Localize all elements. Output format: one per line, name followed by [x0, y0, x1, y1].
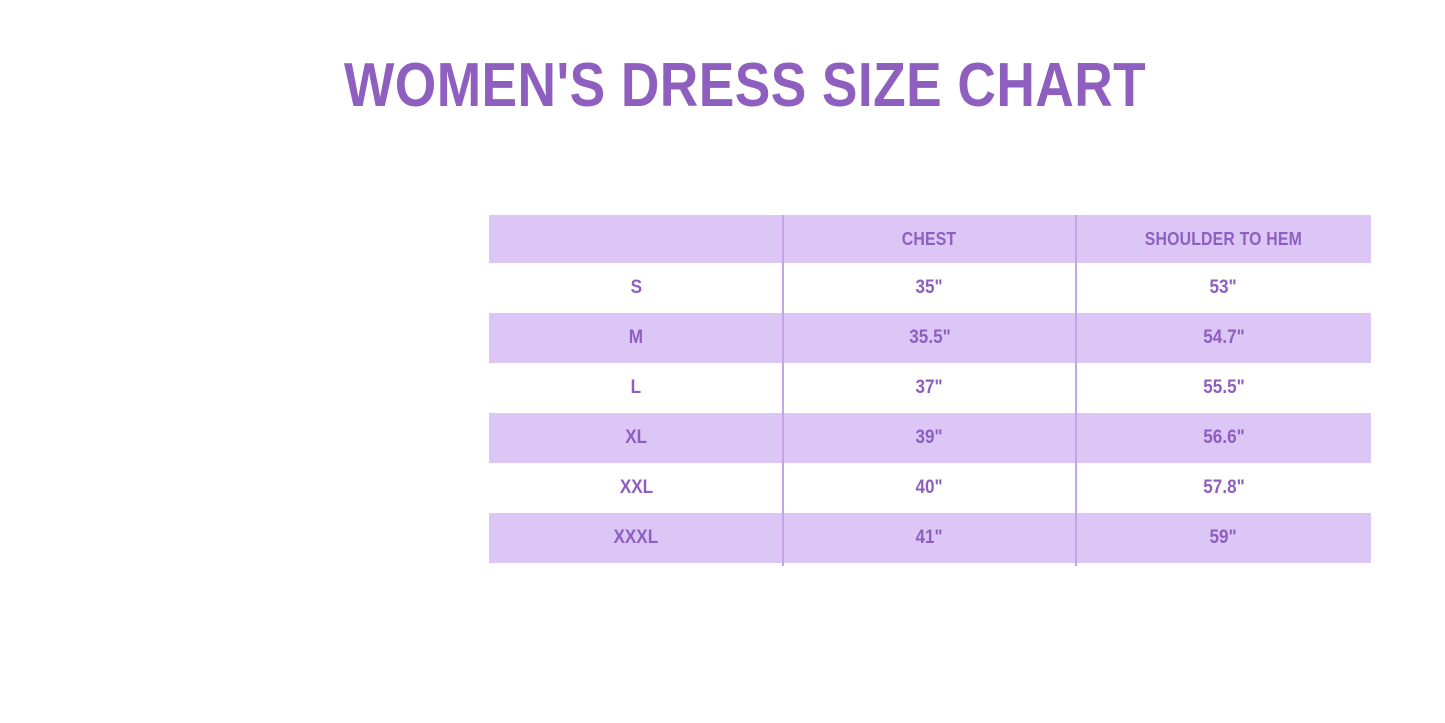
cell-chest: 41" [783, 513, 1076, 563]
cell-size: L [489, 363, 783, 413]
cell-chest: 35" [783, 263, 1076, 313]
cell-size: XL [489, 413, 783, 463]
cell-chest: 40" [783, 463, 1076, 513]
table-header-row: CHEST SHOULDER TO HEM [489, 215, 1371, 263]
cell-shoulder-to-hem: 59" [1076, 513, 1371, 563]
cell-size: XXL [489, 463, 783, 513]
cell-shoulder-to-hem: 55.5" [1076, 363, 1371, 413]
table-row: XL 39" 56.6" [489, 413, 1371, 463]
size-chart-table: CHEST SHOULDER TO HEM S 35" 53" [489, 215, 1371, 563]
table-header: CHEST SHOULDER TO HEM [489, 215, 1371, 263]
table-row: M 35.5" 54.7" [489, 313, 1371, 363]
size-chart-table-container: CHEST SHOULDER TO HEM S 35" 53" [489, 215, 1371, 563]
column-header-size [489, 215, 783, 263]
cell-shoulder-to-hem: 54.7" [1076, 313, 1371, 363]
cell-shoulder-to-hem: 57.8" [1076, 463, 1371, 513]
cell-shoulder-to-hem: 56.6" [1076, 413, 1371, 463]
cell-size: S [489, 263, 783, 313]
cell-chest: 39" [783, 413, 1076, 463]
column-header-shoulder-to-hem: SHOULDER TO HEM [1076, 215, 1371, 263]
table-row: XXXL 41" 59" [489, 513, 1371, 563]
table-row: L 37" 55.5" [489, 363, 1371, 413]
table-body: S 35" 53" M 35.5" 54.7" [489, 263, 1371, 563]
column-header-shoulder-to-hem-label: SHOULDER TO HEM [1145, 229, 1302, 250]
column-header-chest: CHEST [783, 215, 1076, 263]
cell-shoulder-to-hem: 53" [1076, 263, 1371, 313]
column-header-chest-label: CHEST [902, 229, 957, 250]
cell-size: M [489, 313, 783, 363]
table-row: S 35" 53" [489, 263, 1371, 313]
cell-chest: 37" [783, 363, 1076, 413]
cell-chest: 35.5" [783, 313, 1076, 363]
page-title: WOMEN'S DRESS SIZE CHART [124, 55, 1367, 117]
cell-size: XXXL [489, 513, 783, 563]
table-row: XXL 40" 57.8" [489, 463, 1371, 513]
